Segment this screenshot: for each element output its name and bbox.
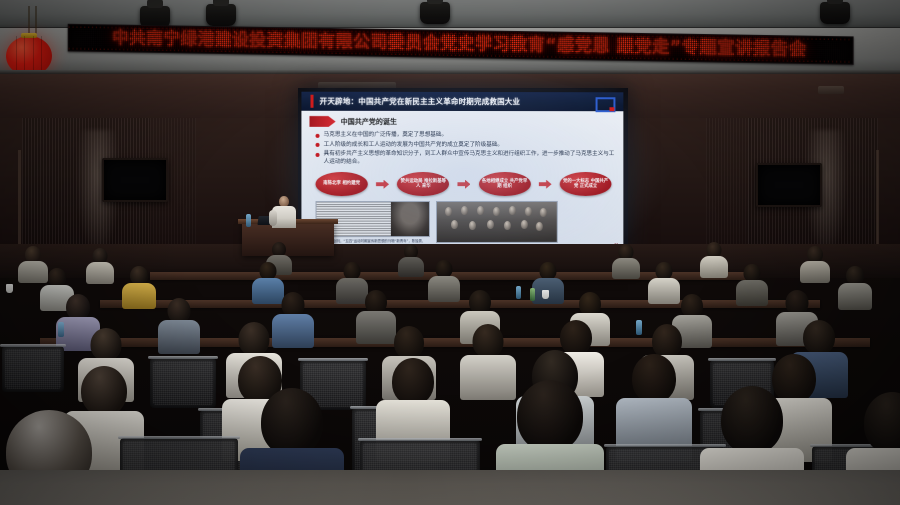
person-head bbox=[721, 386, 783, 454]
ceiling-spotlight bbox=[820, 2, 850, 24]
person-head bbox=[803, 320, 835, 355]
person-torso bbox=[158, 320, 200, 354]
presentation-slide: 开天辟地：中国共产党在新民主主义革命时期完成救国大业 中国共产党的诞生 马克思主… bbox=[301, 92, 623, 255]
audience-member bbox=[736, 264, 768, 304]
paper-cup bbox=[6, 284, 13, 293]
ceiling-spotlight bbox=[206, 4, 236, 26]
section-heading-text: 中国共产党的诞生 bbox=[341, 117, 397, 127]
person-torso bbox=[700, 256, 728, 278]
person-head bbox=[239, 322, 270, 356]
floor-reflection bbox=[0, 470, 900, 505]
slide-header: 开天辟地：中国共产党在新民主主义革命时期完成救国大业 bbox=[301, 92, 623, 112]
chair bbox=[150, 358, 216, 408]
slide-body: 中国共产党的诞生 马克思主义在中国的广泛传播，奠定了思想基础。 工人阶级的成长和… bbox=[301, 111, 623, 254]
person-head bbox=[652, 324, 682, 358]
audience-member bbox=[428, 260, 460, 300]
flow-step-label: 各地相继成立 共产党早期 组织 bbox=[479, 179, 531, 190]
arrow-right-icon bbox=[539, 180, 552, 189]
audience-member bbox=[122, 266, 156, 306]
person-head bbox=[392, 358, 434, 405]
flow-step: 党的一大标志 中国共产党 正式成立 bbox=[560, 172, 612, 196]
audience-member bbox=[700, 242, 728, 275]
audience-member bbox=[398, 244, 424, 276]
person-torso bbox=[122, 283, 156, 309]
lantern-cord bbox=[29, 6, 30, 36]
audience-member bbox=[616, 354, 692, 458]
flow-step: 南陈北李 相约建党 bbox=[316, 172, 368, 196]
person-torso bbox=[838, 283, 872, 310]
flow-step-label: 党的一大标志 中国共产党 正式成立 bbox=[560, 179, 612, 190]
ceiling-spotlight bbox=[420, 2, 450, 24]
bullet-item: 马克思主义在中国的广泛传播，奠定了思想基础。 bbox=[324, 131, 616, 139]
slide-flow-diagram: 南陈北李 相约建党 赞共运动局 推拉斯基等人 来华 各地相继成立 共产党早期 组… bbox=[316, 172, 612, 196]
audience-member bbox=[86, 248, 114, 282]
wall-vent bbox=[818, 86, 844, 94]
person-torso bbox=[86, 262, 114, 284]
audience-member bbox=[158, 298, 200, 352]
water-bottle bbox=[530, 288, 535, 301]
paper-cup bbox=[542, 290, 549, 299]
bullet-item: 具有初步共产主义思想的革命知识分子，到工人群众中宣传马克思主义和进行组织工作，进… bbox=[324, 150, 616, 166]
person-torso bbox=[800, 261, 830, 283]
audience-member bbox=[838, 266, 872, 308]
person-head bbox=[394, 326, 424, 359]
person-head bbox=[517, 380, 583, 452]
person-head bbox=[864, 392, 900, 454]
slide-title-accent bbox=[310, 95, 313, 108]
person-torso bbox=[428, 276, 460, 302]
audience-member bbox=[612, 244, 640, 276]
slide-bullet-list: 马克思主义在中国的广泛传播，奠定了思想基础。 工人阶级的成长和工人运动的发展为中… bbox=[324, 131, 616, 166]
person-head bbox=[632, 354, 676, 403]
flow-step-label: 南陈北李 相约建党 bbox=[321, 182, 362, 187]
water-bottle bbox=[58, 322, 64, 337]
bullet-item: 工人阶级的成长和工人运动的发展为中国共产党的成立奠定了阶级基础。 bbox=[324, 141, 616, 149]
flow-step: 赞共运动局 推拉斯基等人 来华 bbox=[397, 172, 449, 196]
wall-display-left bbox=[102, 158, 168, 202]
audience-area bbox=[0, 250, 900, 505]
arrow-right-icon bbox=[457, 180, 470, 189]
projection-screen: 开天辟地：中国共产党在新民主主义革命时期完成救国大业 中国共产党的诞生 马克思主… bbox=[301, 92, 623, 255]
water-bottle bbox=[516, 286, 521, 299]
person-torso bbox=[612, 258, 640, 279]
lg-logo-icon bbox=[596, 98, 616, 111]
slide-section-heading: 中国共产党的诞生 bbox=[309, 116, 615, 127]
flow-step-label: 赞共运动局 推拉斯基等人 来华 bbox=[397, 179, 449, 190]
person-head bbox=[91, 328, 122, 361]
person-head bbox=[81, 366, 127, 416]
speaker-presenter bbox=[272, 196, 296, 226]
person-torso bbox=[398, 257, 424, 277]
person-head bbox=[473, 324, 504, 358]
speaker-arm bbox=[269, 210, 277, 226]
arrow-banner-icon bbox=[309, 116, 335, 127]
water-bottle bbox=[246, 214, 251, 227]
slide-title: 开天辟地：中国共产党在新民主主义革命时期完成救国大业 bbox=[320, 96, 521, 107]
wall-display-right bbox=[756, 163, 822, 207]
historic-photo-group bbox=[436, 201, 558, 243]
audience-member bbox=[800, 246, 830, 280]
chair bbox=[2, 346, 64, 392]
conference-hall-photo: 中共南宁绿港建设投资集团有限公司委员会党史学习教育“感党恩 跟党走”专题宣讲报告… bbox=[0, 0, 900, 505]
lantern-cord bbox=[36, 6, 37, 36]
flow-step: 各地相继成立 共产党早期 组织 bbox=[479, 172, 531, 196]
arrow-right-icon bbox=[376, 180, 389, 189]
person-head bbox=[261, 388, 323, 456]
person-torso bbox=[736, 280, 768, 306]
